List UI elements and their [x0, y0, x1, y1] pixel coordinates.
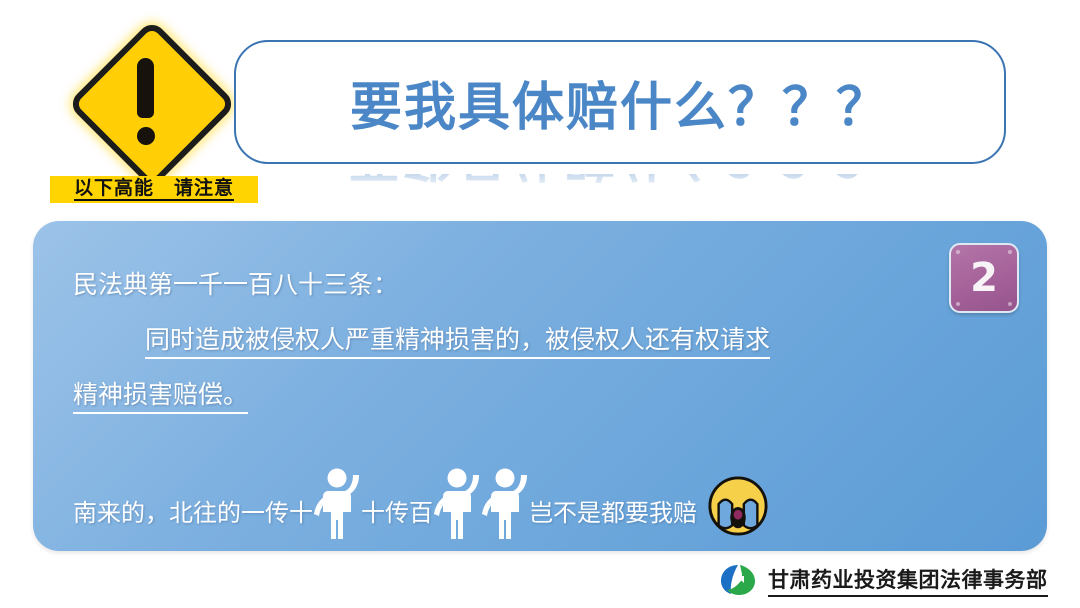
- page-number-label: 2: [970, 258, 998, 298]
- narration-text-part-3: 岂不是都要我赔: [529, 501, 697, 541]
- person-waving-icon: [482, 467, 528, 541]
- narration-row: 南来的，北往的一传十 十传百 岂不是都要我赔: [73, 461, 769, 541]
- person-waving-icon: [434, 467, 480, 541]
- person-waving-icon: [314, 467, 360, 541]
- page-title: 要我具体赔什么？？？: [350, 65, 890, 140]
- law-underlined-text-2: 精神损害赔偿。: [73, 380, 248, 414]
- exclamation-dot-icon: [137, 127, 155, 145]
- warning-caption-banner: 以下高能 请注意: [50, 176, 258, 203]
- exclamation-bar-icon: [137, 58, 154, 118]
- law-underlined-text-1: 同时造成被侵权人严重精神损害的，被侵权人还有权请求: [145, 325, 770, 359]
- badge-rivet-icon: [956, 250, 960, 254]
- footer: 甘肃药业投资集团法律事务部: [718, 562, 1048, 598]
- warning-caption-label: 以下高能 请注意: [74, 178, 234, 202]
- law-article-body-line-2: 精神损害赔偿。: [73, 380, 248, 410]
- badge-rivet-icon: [1008, 250, 1012, 254]
- content-panel: 2 民法典第一千一百八十三条： 同时造成被侵权人严重精神损害的，被侵权人还有权请…: [33, 221, 1047, 551]
- leaf-circle-logo: [718, 562, 758, 598]
- warning-sign: [68, 20, 223, 175]
- page-number-badge: 2: [949, 243, 1019, 313]
- loudly-crying-face-icon: [707, 475, 769, 537]
- law-article-heading: 民法典第一千一百八十三条：: [73, 270, 398, 300]
- title-reflection-text: 要我具体赔什么？？？: [348, 174, 888, 198]
- narration-text-part-2: 十传百: [361, 501, 433, 541]
- footer-org-label: 甘肃药业投资集团法律事务部: [768, 564, 1048, 597]
- title-pill: 要我具体赔什么？？？: [234, 40, 1006, 164]
- law-article-body-line-1: 同时造成被侵权人严重精神损害的，被侵权人还有权请求: [73, 325, 770, 355]
- badge-rivet-icon: [1008, 302, 1012, 306]
- badge-rivet-icon: [956, 302, 960, 306]
- narration-text-part-1: 南来的，北往的一传十: [73, 501, 313, 541]
